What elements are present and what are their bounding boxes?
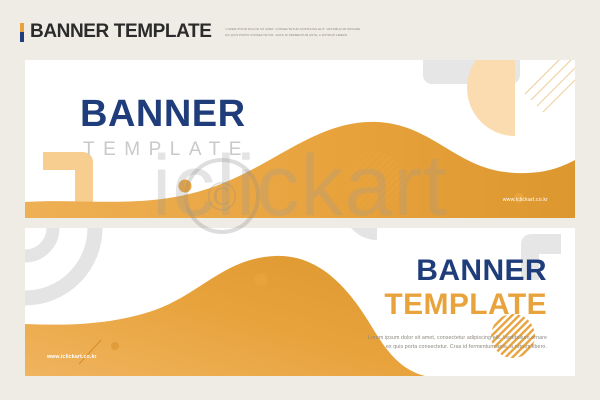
small-dot: [111, 342, 119, 350]
banner-2-title: BANNER: [368, 254, 547, 287]
page-title: BANNER TEMPLATE: [30, 22, 212, 42]
banner-template-canvas: BANNER TEMPLATE LOREM IPSUM DOLOR SIT AM…: [0, 0, 600, 400]
page-header: BANNER TEMPLATE LOREM IPSUM DOLOR SIT AM…: [20, 20, 580, 44]
banner-2-text-block: BANNER TEMPLATE Lorem ipsum dolor sit am…: [368, 254, 547, 351]
banner-1-url[interactable]: www.iclickart.co.kr: [503, 197, 548, 203]
banner-1-title: BANNER: [80, 94, 250, 134]
orange-dot: [255, 274, 268, 287]
banner-2-body-line-1: Lorem ipsum dolor sit amet, consectetur …: [368, 334, 547, 343]
accent-bar-bottom: [20, 32, 24, 42]
banner-card-2[interactable]: BANNER TEMPLATE Lorem ipsum dolor sit am…: [25, 228, 575, 376]
banner-2-body-line-2: ex quis porta consectetur. Cras id ferme…: [368, 343, 547, 352]
header-subtext: LOREM IPSUM DOLOR SIT AMET, CONSECTETUR …: [226, 27, 361, 37]
striped-circle: [346, 151, 404, 209]
diagonal-stripe-lines: [525, 60, 575, 112]
banner-card-1[interactable]: BANNER TEMPLATE www.iclickart.co.kr: [25, 60, 575, 218]
banner-2-body: Lorem ipsum dolor sit amet, consectetur …: [368, 334, 547, 351]
banner-1-text-block: BANNER TEMPLATE: [80, 94, 250, 162]
header-subtext-line-1: LOREM IPSUM DOLOR SIT AMET, CONSECTETUR …: [226, 27, 361, 32]
accent-bar-icon: [20, 23, 24, 42]
banner-2-url[interactable]: www.iclickart.co.kr: [47, 354, 97, 360]
banner-1-subtitle: TEMPLATE: [83, 138, 250, 162]
header-subtext-line-2: EX QUIS PORTA CONSECTETUR. CRAS ID FERME…: [226, 33, 361, 38]
accent-bar-top: [20, 23, 24, 33]
banner-2-subtitle: TEMPLATE: [368, 288, 547, 321]
pale-orange-quarter-circle: [467, 60, 515, 136]
orange-dot-left: [179, 180, 192, 193]
gray-quarter-circle: [343, 228, 377, 240]
gray-concentric-arcs: [25, 228, 95, 298]
